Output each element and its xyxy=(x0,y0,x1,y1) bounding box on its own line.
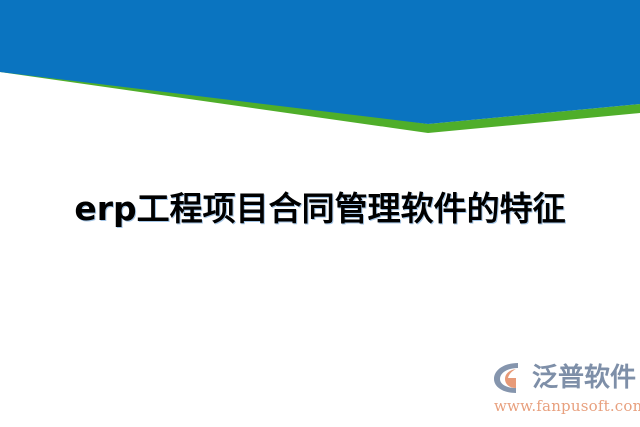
slide-canvas: erp工程项目合同管理软件的特征 泛普软件 www.fanpusoft.com xyxy=(0,0,640,427)
brand-watermark: 泛普软件 www.fanpusoft.com xyxy=(492,359,634,421)
brand-url: www.fanpusoft.com xyxy=(492,397,634,415)
banner-shape-svg xyxy=(0,0,640,150)
brand-name: 泛普软件 xyxy=(532,363,636,393)
brand-logo-row: 泛普软件 xyxy=(492,359,634,397)
page-title: erp工程项目合同管理软件的特征 xyxy=(0,186,640,232)
fanpu-c-swoosh-svg xyxy=(492,361,530,395)
fanpu-c-swoosh-icon xyxy=(492,361,530,395)
top-chevron-banner xyxy=(0,0,640,150)
banner-blue-chevron xyxy=(0,0,640,124)
